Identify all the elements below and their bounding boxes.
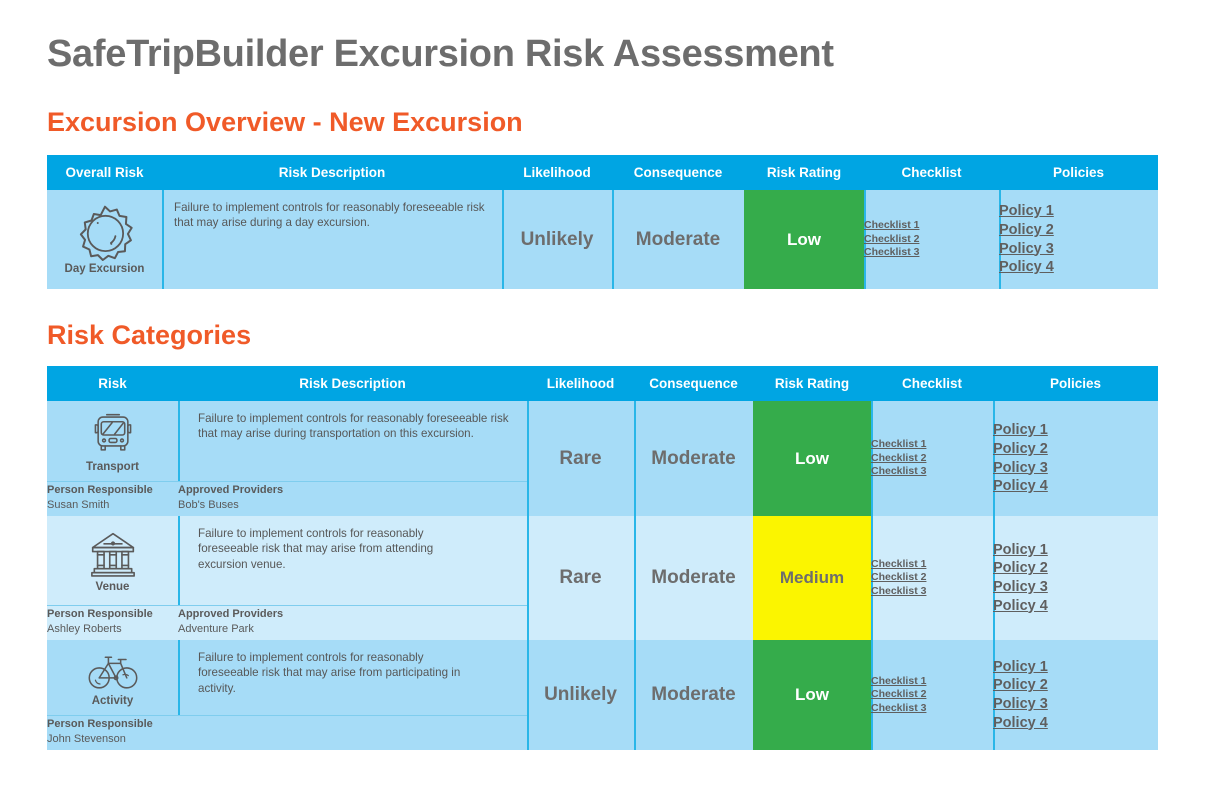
page-title: SafeTripBuilder Excursion Risk Assessmen… [47, 33, 834, 76]
risk-description-text: Failure to implement controls for reason… [162, 190, 502, 237]
risk-category-label: Day Excursion [65, 263, 145, 275]
checklist-cell: Checklist 1 Checklist 2 Checklist 3 [871, 516, 993, 640]
risk-categories-table: Risk Risk Description Likelihood Consequ… [47, 366, 1158, 750]
table-header-row: Overall Risk Risk Description Likelihood… [47, 155, 1158, 190]
policy-link[interactable]: Policy 3 [999, 240, 1054, 259]
policy-link[interactable]: Policy 2 [999, 221, 1054, 240]
policies-cell: Policy 1 Policy 2 Policy 3 Policy 4 [993, 640, 1158, 750]
col-header-risk: Risk [47, 366, 178, 401]
approved-providers-label: Approved Providers [178, 608, 527, 622]
policies-cell: Policy 1 Policy 2 Policy 3 Policy 4 [999, 190, 1158, 289]
table-row: Transport Failure to implement controls … [47, 401, 1158, 481]
likelihood-cell: Rare [527, 401, 634, 516]
checklist-cell: Checklist 1 Checklist 2 Checklist 3 [864, 190, 999, 289]
col-header-consequence: Consequence [634, 366, 753, 401]
checklist-link[interactable]: Checklist 2 [871, 571, 926, 584]
col-header-policies: Policies [993, 366, 1158, 401]
risk-category-label: Venue [96, 581, 130, 593]
section-heading-risk-categories: Risk Categories [47, 320, 251, 351]
policy-link[interactable]: Policy 3 [993, 459, 1048, 478]
risk-category-cell: Venue [47, 516, 178, 605]
checklist-link[interactable]: Checklist 2 [871, 452, 926, 465]
approved-providers-cell [178, 715, 527, 750]
col-header-risk-rating: Risk Rating [753, 366, 871, 401]
table-row: Day Excursion Failure to implement contr… [47, 190, 1158, 289]
risk-assessment-page: SafeTripBuilder Excursion Risk Assessmen… [0, 0, 1207, 812]
checklist-link[interactable]: Checklist 2 [864, 233, 919, 246]
checklist-link[interactable]: Checklist 3 [864, 246, 919, 259]
risk-description-text: Failure to implement controls for reason… [178, 640, 488, 702]
checklist-link[interactable]: Checklist 3 [871, 465, 926, 478]
checklist-link[interactable]: Checklist 1 [871, 558, 926, 571]
policy-link[interactable]: Policy 4 [993, 714, 1048, 733]
consequence-cell: Moderate [634, 516, 753, 640]
sun-badge-icon [76, 204, 134, 262]
policy-link[interactable]: Policy 2 [993, 676, 1048, 695]
person-responsible-value: Susan Smith [47, 498, 178, 512]
checklist-link[interactable]: Checklist 1 [864, 219, 919, 232]
policy-link[interactable]: Policy 4 [999, 258, 1054, 277]
risk-description-text: Failure to implement controls for reason… [178, 516, 478, 578]
venue-building-icon [87, 528, 139, 580]
person-responsible-label: Person Responsible [47, 484, 178, 498]
risk-description-cell: Failure to implement controls for reason… [162, 190, 502, 289]
consequence-cell: Moderate [612, 190, 744, 289]
person-responsible-cell: Person Responsible Ashley Roberts [47, 605, 178, 640]
col-header-likelihood: Likelihood [502, 155, 612, 190]
policy-link[interactable]: Policy 4 [993, 597, 1048, 616]
risk-rating-cell: Medium [753, 516, 871, 640]
checklist-link[interactable]: Checklist 3 [871, 585, 926, 598]
policy-link[interactable]: Policy 3 [993, 695, 1048, 714]
approved-providers-value: Bob's Buses [178, 498, 527, 512]
risk-description-text: Failure to implement controls for reason… [178, 401, 527, 448]
bus-icon [88, 410, 138, 460]
risk-rating-cell: Low [753, 640, 871, 750]
checklist-cell: Checklist 1 Checklist 2 Checklist 3 [871, 640, 993, 750]
approved-providers-value: Adventure Park [178, 622, 527, 636]
bicycle-icon [87, 648, 139, 694]
person-responsible-label: Person Responsible [47, 718, 178, 732]
col-header-consequence: Consequence [612, 155, 744, 190]
risk-category-label: Activity [92, 695, 134, 707]
col-header-likelihood: Likelihood [527, 366, 634, 401]
col-header-checklist: Checklist [864, 155, 999, 190]
col-header-overall-risk: Overall Risk [47, 155, 162, 190]
risk-category-cell: Transport [47, 401, 178, 481]
table-row: Activity Failure to implement controls f… [47, 640, 1158, 715]
excursion-overview-table: Overall Risk Risk Description Likelihood… [47, 155, 1158, 289]
col-header-risk-rating: Risk Rating [744, 155, 864, 190]
policies-cell: Policy 1 Policy 2 Policy 3 Policy 4 [993, 516, 1158, 640]
col-header-policies: Policies [999, 155, 1158, 190]
checklist-link[interactable]: Checklist 3 [871, 702, 926, 715]
policy-link[interactable]: Policy 2 [993, 440, 1048, 459]
checklist-link[interactable]: Checklist 2 [871, 688, 926, 701]
risk-rating-cell: Low [753, 401, 871, 516]
policy-link[interactable]: Policy 2 [993, 559, 1048, 578]
policy-link[interactable]: Policy 1 [993, 421, 1048, 440]
policy-link[interactable]: Policy 1 [993, 658, 1048, 677]
risk-description-cell: Failure to implement controls for reason… [178, 401, 527, 481]
policy-link[interactable]: Policy 3 [993, 578, 1048, 597]
risk-rating-cell: Low [744, 190, 864, 289]
risk-category-label: Transport [86, 461, 139, 473]
person-responsible-label: Person Responsible [47, 608, 178, 622]
consequence-cell: Moderate [634, 401, 753, 516]
col-header-checklist: Checklist [871, 366, 993, 401]
likelihood-cell: Rare [527, 516, 634, 640]
table-row: Venue Failure to implement controls for … [47, 516, 1158, 605]
approved-providers-label: Approved Providers [178, 484, 527, 498]
col-header-risk-description: Risk Description [162, 155, 502, 190]
person-responsible-cell: Person Responsible Susan Smith [47, 481, 178, 516]
likelihood-cell: Unlikely [502, 190, 612, 289]
likelihood-cell: Unlikely [527, 640, 634, 750]
person-responsible-cell: Person Responsible John Stevenson [47, 715, 178, 750]
policies-cell: Policy 1 Policy 2 Policy 3 Policy 4 [993, 401, 1158, 516]
section-heading-overview: Excursion Overview - New Excursion [47, 107, 523, 138]
risk-description-cell: Failure to implement controls for reason… [178, 516, 527, 605]
policy-link[interactable]: Policy 1 [993, 541, 1048, 560]
consequence-cell: Moderate [634, 640, 753, 750]
approved-providers-cell: Approved Providers Bob's Buses [178, 481, 527, 516]
policy-link[interactable]: Policy 1 [999, 202, 1054, 221]
person-responsible-value: John Stevenson [47, 732, 178, 746]
policy-link[interactable]: Policy 4 [993, 477, 1048, 496]
checklist-link[interactable]: Checklist 1 [871, 438, 926, 451]
risk-category-cell: Day Excursion [47, 190, 162, 289]
risk-description-cell: Failure to implement controls for reason… [178, 640, 527, 715]
person-responsible-value: Ashley Roberts [47, 622, 178, 636]
checklist-link[interactable]: Checklist 1 [871, 675, 926, 688]
risk-category-cell: Activity [47, 640, 178, 715]
table-header-row: Risk Risk Description Likelihood Consequ… [47, 366, 1158, 401]
approved-providers-cell: Approved Providers Adventure Park [178, 605, 527, 640]
col-header-risk-description: Risk Description [178, 366, 527, 401]
checklist-cell: Checklist 1 Checklist 2 Checklist 3 [871, 401, 993, 516]
